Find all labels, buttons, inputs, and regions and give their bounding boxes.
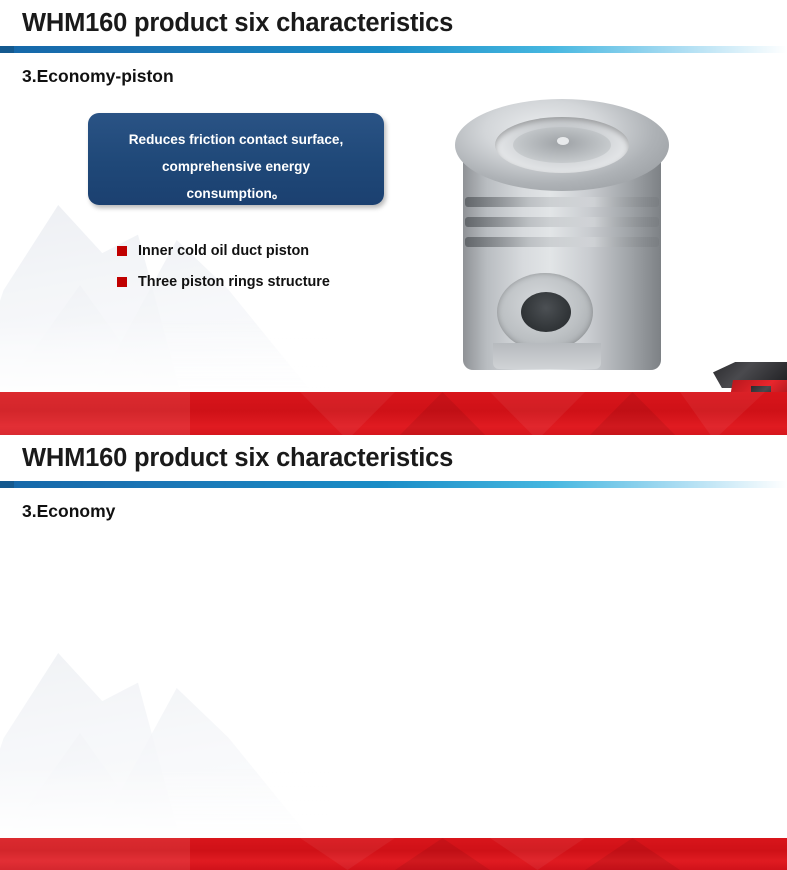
slide-piston: WHM160 product six characteristics 3.Eco…: [0, 0, 787, 435]
list-item-label: Inner cold oil duct piston: [138, 243, 309, 259]
red-footer-band: [0, 838, 787, 870]
slide-economy: WHM160 product six characteristics 3.Eco…: [0, 435, 787, 870]
page-title: WHM160 product six characteristics: [22, 444, 453, 473]
callout-line-3: consumption。: [88, 180, 384, 207]
section-label: 3.Economy: [22, 501, 115, 522]
bullet-list-piston: Inner cold oil duct piston Three piston …: [117, 243, 330, 305]
bullet-square-icon: [117, 246, 127, 256]
list-item: Inner cold oil duct piston: [117, 243, 330, 259]
page-title: WHM160 product six characteristics: [22, 9, 453, 38]
mountain-watermark: [0, 623, 330, 838]
callout-box-friction: Reduces friction contact surface, compre…: [88, 113, 384, 205]
title-divider: [0, 481, 787, 488]
callout-line-1: Reduces friction contact surface,: [88, 126, 384, 153]
section-label: 3.Economy-piston: [22, 66, 174, 87]
callout-line-2: comprehensive energy: [88, 153, 384, 180]
bullet-square-icon: [117, 277, 127, 287]
list-item: Three piston rings structure: [117, 274, 330, 290]
title-divider: [0, 46, 787, 53]
list-item-label: Three piston rings structure: [138, 274, 330, 290]
piston-image: [435, 85, 690, 385]
red-divider-band: [0, 392, 787, 440]
